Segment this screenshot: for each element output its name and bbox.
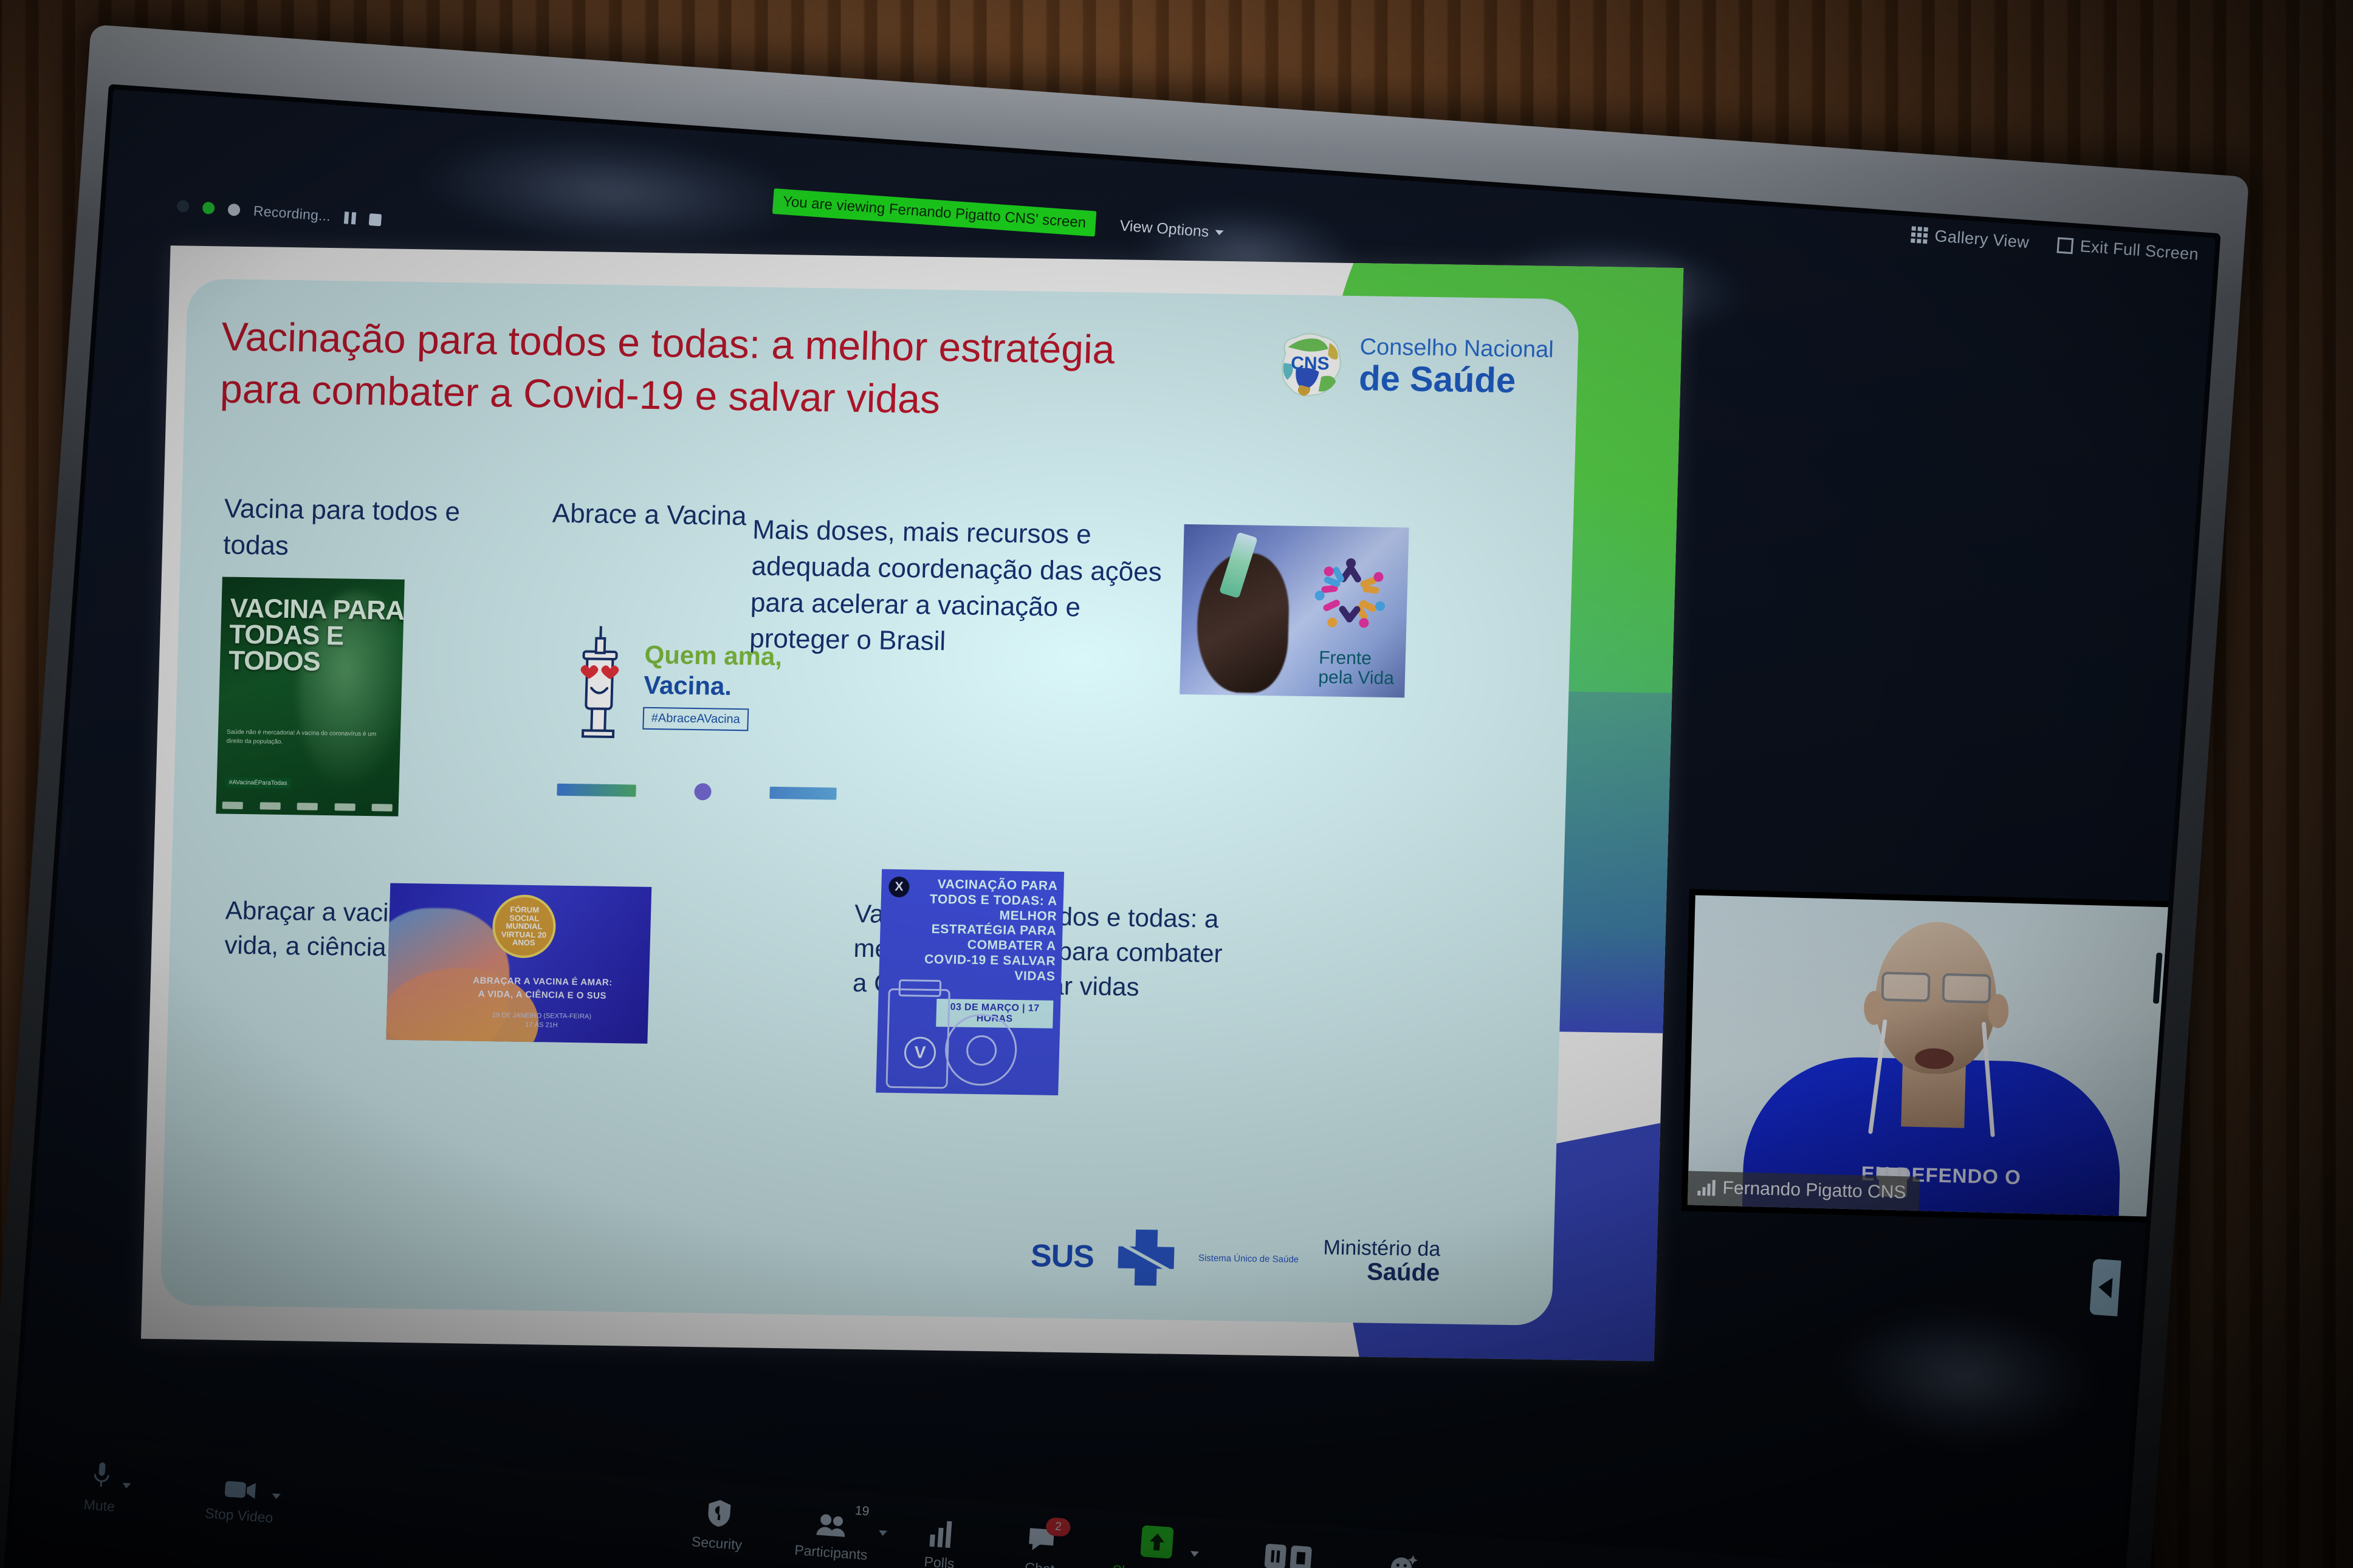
- chevron-up-icon[interactable]: [272, 1493, 281, 1499]
- polls-label: Polls: [924, 1553, 955, 1568]
- participant-name-tag: Fernando Pigatto CNS: [1688, 1171, 1920, 1211]
- screen-share-status-bar: You are viewing Fernando Pigatto CNS' sc…: [772, 188, 1225, 245]
- cns-line1: Conselho Nacional: [1359, 335, 1554, 361]
- ministry-line1: Ministério da: [1323, 1236, 1441, 1260]
- mute-button[interactable]: Mute: [83, 1457, 118, 1515]
- status-dot-connection: [202, 201, 215, 214]
- stop-video-button[interactable]: Stop Video: [204, 1467, 276, 1527]
- ministry-of-health-logo: Ministério da Saúde: [1322, 1236, 1441, 1286]
- pause-stop-recording-icon: [1264, 1538, 1314, 1568]
- banner-title: ABRAÇAR A VACINA É AMAR: A VIDA, A CIÊNC…: [445, 974, 639, 1003]
- stop-recording-button[interactable]: [368, 213, 381, 226]
- chat-bubble-icon: 2: [1026, 1521, 1058, 1554]
- slide-header: Vacinação para todos e todas: a melhor e…: [219, 310, 1554, 434]
- stop-video-label: Stop Video: [204, 1505, 273, 1526]
- vial-letter: V: [904, 1036, 936, 1069]
- cns-globe-icon: CNS: [1273, 329, 1347, 402]
- chevron-up-icon[interactable]: [879, 1530, 888, 1536]
- syringe-character-icon: [565, 625, 634, 747]
- view-options-label: View Options: [1119, 217, 1210, 241]
- person-ear-right: [1987, 994, 2008, 1029]
- sus-subtitle: Sistema Único de Saúde: [1198, 1252, 1299, 1267]
- grid-icon: [1911, 226, 1928, 244]
- cns-logo: CNS Conselho Nacional de Saúde: [1273, 329, 1554, 405]
- quem-ama-line2: Vacina.: [644, 671, 782, 702]
- security-label: Security: [691, 1533, 743, 1553]
- fullscreen-exit-icon: [2056, 237, 2073, 254]
- video-camera-icon: [224, 1468, 258, 1502]
- share-screen-button[interactable]: Share Screen: [1112, 1523, 1201, 1568]
- banner-badge: FÓRUM SOCIAL MUNDIAL VIRTUAL 20 ANOS: [492, 894, 557, 959]
- chevron-up-icon[interactable]: [122, 1483, 131, 1489]
- more-ellipsis-icon: [1471, 1562, 1503, 1568]
- vial-illustration: V: [885, 988, 950, 1089]
- participant-video-frame: EU DEFENDO O Fernando Pigatto CNS: [1688, 895, 2182, 1217]
- quem-ama-hashtag: #AbraceAVacina: [642, 707, 749, 731]
- svg-text:CNS: CNS: [1291, 354, 1330, 374]
- frente-pela-vida-star-icon: [1314, 558, 1386, 629]
- participant-video-tile[interactable]: EU DEFENDO O Fernando Pigatto CNS: [1681, 889, 2188, 1224]
- chat-label: Chat: [1024, 1559, 1054, 1568]
- pause-recording-button[interactable]: [344, 211, 356, 224]
- poster-green-subtext: Saúde não é mercadoria! A vacina do coro…: [226, 728, 392, 748]
- partner-logo-2: [694, 783, 712, 800]
- vial-cap-illustration: [944, 1013, 1018, 1086]
- panel-handle-left[interactable]: [61, 804, 71, 855]
- frente-pela-vida-photo: Frente pela Vida: [1180, 524, 1409, 697]
- participants-label: Participants: [794, 1542, 868, 1563]
- participants-icon: 19: [815, 1504, 851, 1538]
- poster-green-hashtag: #AVacinaÉParaTodas: [225, 778, 290, 789]
- abrace-partner-logos: [557, 781, 837, 803]
- screen-glare: [420, 124, 803, 259]
- caption-vacina-para-todos: Vacina para todos e todas: [222, 491, 510, 568]
- security-button[interactable]: Security: [691, 1494, 745, 1553]
- viewing-banner: You are viewing Fernando Pigatto CNS' sc…: [772, 188, 1097, 236]
- exit-full-screen-button[interactable]: Exit Full Screen: [2056, 235, 2199, 264]
- ministry-line2: Saúde: [1322, 1258, 1440, 1286]
- reactions-smiley-icon: [1389, 1547, 1419, 1568]
- poster-vacina-para-todas-e-todos: VACINA PARA TODAS E TODOS Saúde não é me…: [216, 577, 405, 816]
- record-dot-icon: [227, 203, 240, 216]
- partner-logo-1: [557, 784, 636, 797]
- eyeglasses-icon: [1881, 971, 1991, 1000]
- poster-green-headline: VACINA PARA TODAS E TODOS: [228, 595, 404, 677]
- quem-word: Quem: [644, 640, 717, 670]
- share-screen-icon: [1140, 1525, 1174, 1559]
- quem-ama-line1: Quem ama,: [644, 640, 783, 671]
- chat-button[interactable]: 2 Chat: [1024, 1521, 1057, 1568]
- frente-pela-vida-label: Frente pela Vida: [1318, 648, 1395, 688]
- poster-blue-headline: VACINAÇÃO PARA TODOS E TODAS: A MELHOR E…: [916, 877, 1058, 985]
- cns-wordmark: Conselho Nacional de Saúde: [1358, 335, 1554, 399]
- poll-bars-icon: [928, 1515, 955, 1549]
- participants-count: 19: [854, 1504, 870, 1519]
- chevron-down-icon: [1215, 230, 1224, 235]
- gallery-view-label: Gallery View: [1934, 227, 2030, 252]
- shared-slide: Vacinação para todos e todas: a melhor e…: [141, 245, 1683, 1361]
- exit-full-screen-label: Exit Full Screen: [2080, 237, 2199, 264]
- ama-word: ama,: [724, 642, 783, 671]
- gallery-view-button[interactable]: Gallery View: [1911, 225, 2030, 252]
- chevron-left-icon: [2098, 1277, 2112, 1298]
- recording-indicator: Recording...: [176, 197, 382, 228]
- quem-ama-wordmark: Quem ama, Vacina. #AbraceAVacina: [642, 640, 782, 731]
- slide-footer-logos: SUS Sistema Único de Saúde Ministério da…: [1030, 1228, 1441, 1290]
- screen-glare: [1833, 1302, 2097, 1453]
- slide-content-card: Vacinação para todos e todas: a melhor e…: [160, 279, 1579, 1326]
- reactions-button[interactable]: Reactions: [1370, 1546, 1435, 1568]
- signal-strength-icon: [1697, 1180, 1716, 1196]
- cns-line2: de Saúde: [1358, 361, 1553, 399]
- room-scene: Gallery View Exit Full Screen You are vi…: [0, 0, 2353, 1568]
- share-screen-label: Share Screen: [1112, 1562, 1198, 1568]
- display-monitor: Gallery View Exit Full Screen You are vi…: [0, 24, 2249, 1568]
- recording-label: Recording...: [253, 203, 331, 225]
- sus-wordmark: SUS: [1030, 1238, 1094, 1275]
- sus-cross-icon: [1118, 1229, 1175, 1286]
- zoom-meeting-screen: Gallery View Exit Full Screen You are vi…: [9, 89, 2216, 1568]
- banner-date: 29 DE JANEIRO (SEXTA-FEIRA) 17 ÀS 21H: [445, 1010, 639, 1032]
- frente-line2: pela Vida: [1318, 668, 1394, 688]
- pause-stop-recording-button[interactable]: Pause/Stop Recording: [1217, 1535, 1361, 1568]
- mute-label: Mute: [83, 1496, 115, 1515]
- frente-line1: Frente: [1319, 648, 1395, 668]
- poster-green-partner-logos: [222, 801, 393, 811]
- chat-unread-badge: 2: [1046, 1517, 1071, 1537]
- shield-icon: [705, 1496, 733, 1529]
- polls-button[interactable]: Polls: [924, 1515, 958, 1568]
- banner-badge-text: FÓRUM SOCIAL MUNDIAL VIRTUAL 20 ANOS: [495, 905, 554, 948]
- slide-title: Vacinação para todos e todas: a melhor e…: [219, 310, 1146, 428]
- chevron-up-icon[interactable]: [1190, 1551, 1200, 1557]
- participants-button[interactable]: 19 Participants: [794, 1503, 871, 1563]
- collapse-panel-button[interactable]: [2089, 1259, 2121, 1316]
- partner-logo-3: [769, 787, 837, 800]
- microphone-icon: [91, 1458, 112, 1491]
- close-icon: X: [888, 877, 910, 897]
- zoom-toolbar: Mute Stop Video Security: [9, 1433, 2121, 1568]
- view-options-button[interactable]: View Options: [1119, 217, 1224, 242]
- participant-name-label: Fernando Pigatto CNS: [1722, 1178, 1906, 1203]
- more-button[interactable]: More: [1469, 1562, 1505, 1568]
- poster-vacinacao-campaign: X VACINAÇÃO PARA TODOS E TODAS: A MELHOR…: [876, 869, 1064, 1095]
- banner-forum-social-mundial: FÓRUM SOCIAL MUNDIAL VIRTUAL 20 ANOS ABR…: [386, 883, 651, 1044]
- quem-ama-vacina-logo: Quem ama, Vacina. #AbraceAVacina: [565, 625, 835, 750]
- status-dot-idle: [177, 199, 190, 212]
